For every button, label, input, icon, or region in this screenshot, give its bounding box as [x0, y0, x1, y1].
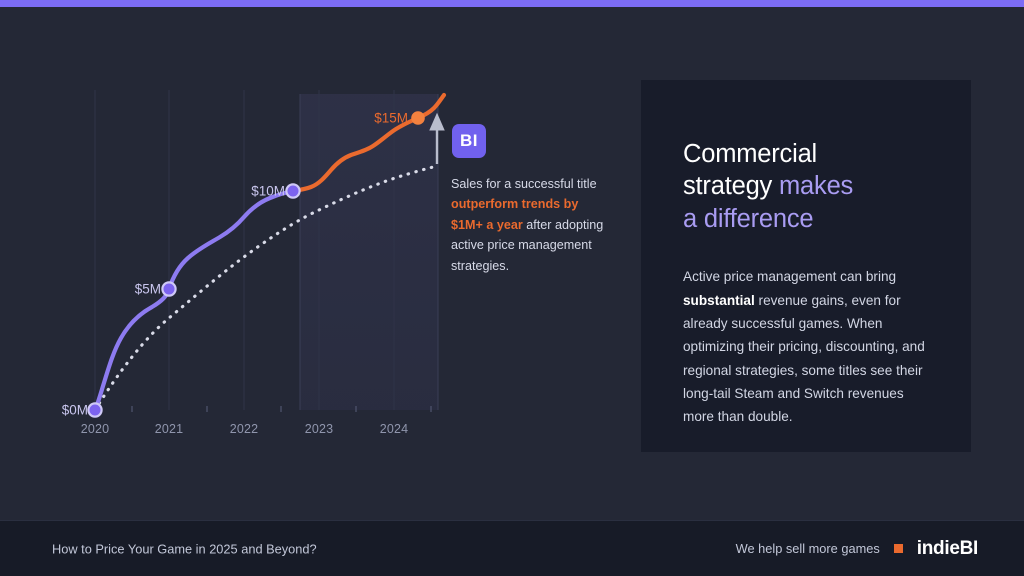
footer-deck-title: How to Price Your Game in 2025 and Beyon… [52, 541, 317, 556]
footer-square-icon [894, 544, 903, 553]
marker-0m [88, 403, 101, 416]
value-label-10m: $10M [251, 184, 285, 199]
slide-root: $0M $5M $10M $15M 2020 2021 2022 2023 20… [0, 0, 1024, 576]
body-bold-word: substantial [683, 293, 755, 308]
top-accent-bar [0, 0, 1024, 7]
footer-brand-group: We help sell more games indieBI [736, 538, 978, 560]
chart-callout-text: Sales for a successful title outperform … [451, 174, 611, 276]
marker-10m [286, 184, 299, 197]
marker-5m [162, 282, 175, 295]
footer-logo: indieBI [917, 538, 978, 560]
axis-label-2021: 2021 [155, 422, 184, 436]
insight-panel-heading: Commercial strategy makes a difference [683, 138, 929, 235]
insight-panel: Commercial strategy makes a difference A… [641, 80, 971, 452]
heading-line-2-accent: makes [779, 172, 853, 200]
axis-label-2020: 2020 [81, 422, 110, 436]
body-part-1: Active price management can bring [683, 269, 896, 284]
indiebi-badge-label: BI [460, 131, 478, 151]
body-part-2: revenue gains, even for already successf… [683, 293, 925, 425]
value-label-15m: $15M [374, 111, 408, 126]
insight-panel-body: Active price management can bring substa… [683, 265, 929, 429]
series-line-before [95, 191, 293, 410]
axis-label-2024: 2024 [380, 422, 409, 436]
axis-label-2022: 2022 [230, 422, 259, 436]
heading-line-3-accent: a difference [683, 205, 813, 233]
value-label-5m: $5M [135, 282, 161, 297]
marker-15m [411, 111, 425, 125]
indiebi-badge-icon: BI [452, 124, 486, 158]
callout-part-1: Sales for a successful title [451, 177, 597, 191]
heading-line-2-plain: strategy [683, 172, 779, 200]
footer-tagline: We help sell more games [736, 541, 880, 556]
axis-label-2023: 2023 [305, 422, 334, 436]
value-label-0m: $0M [62, 403, 88, 418]
heading-line-1: Commercial [683, 140, 817, 168]
chart-highlight-band [300, 94, 438, 410]
slide-footer: How to Price Your Game in 2025 and Beyon… [0, 520, 1024, 576]
